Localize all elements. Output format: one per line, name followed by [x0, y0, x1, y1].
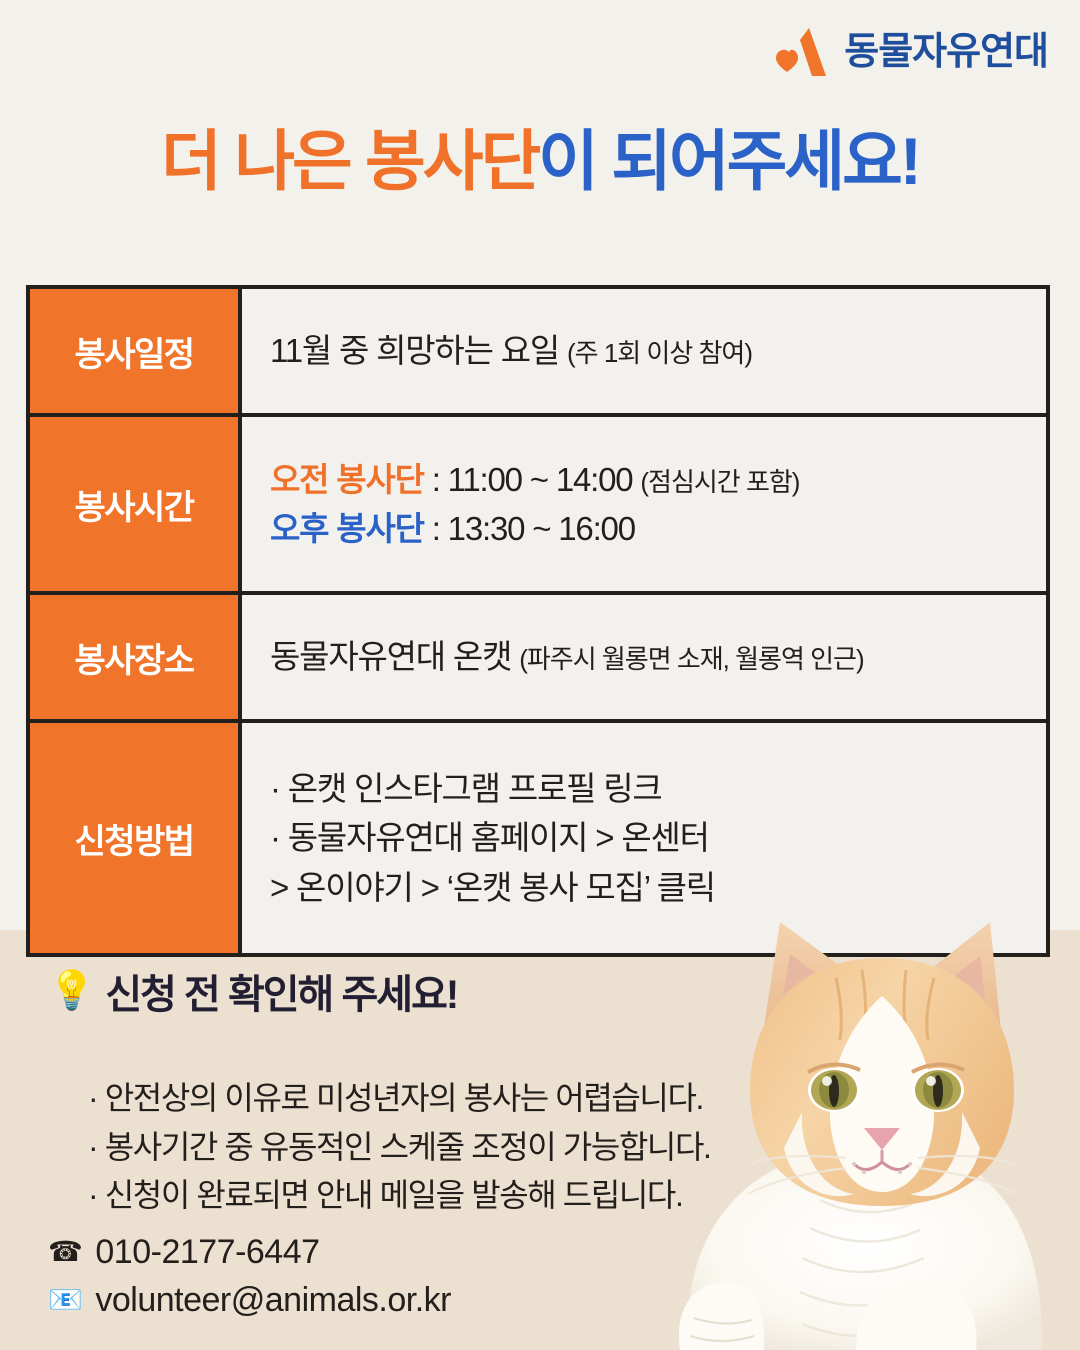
apply-step-3: > 온이야기 > ‘온캣 봉사 모집’ 클릭 [270, 863, 1046, 913]
list-item: · 안전상의 이유로 미성년자의 봉사는 어렵습니다. [88, 1074, 711, 1123]
lightbulb-icon: 💡 [48, 972, 93, 1010]
page-title: 더 나은 봉사단이 되어주세요! [0, 128, 1080, 194]
table-row-time: 봉사시간 오전 봉사단 : 11:00 ~ 14:00 (점심시간 포함) 오후… [28, 415, 1048, 593]
morning-team-note: (점심시간 포함) [640, 467, 799, 497]
location-main-text: 동물자유연대 온캣 [270, 638, 511, 675]
contact-email-row[interactable]: 📧 volunteer@animals.or.kr [48, 1276, 451, 1324]
row-value-apply: · 온캣 인스타그램 프로필 링크 · 동물자유연대 홈페이지 > 온센터 > … [240, 721, 1048, 955]
row-value-location: 동물자유연대 온캣 (파주시 월롱면 소재, 월롱역 인근) [240, 593, 1048, 721]
row-value-schedule: 11월 중 희망하는 요일 (주 1회 이상 참여) [240, 287, 1048, 415]
contact-phone-row[interactable]: ☎ 010-2177-6447 [48, 1228, 451, 1276]
volunteer-info-table: 봉사일정 11월 중 희망하는 요일 (주 1회 이상 참여) 봉사시간 오전 … [26, 285, 1050, 957]
row-label-schedule: 봉사일정 [28, 287, 240, 415]
contact-block: ☎ 010-2177-6447 📧 volunteer@animals.or.k… [48, 1228, 451, 1325]
email-envelope-icon: 📧 [48, 1286, 82, 1314]
afternoon-team-hours: : 13:30 ~ 16:00 [432, 510, 635, 547]
notice-heading-text: 신청 전 확인해 주세요! [105, 962, 457, 1020]
row-label-apply: 신청방법 [28, 721, 240, 955]
notice-heading: 💡 신청 전 확인해 주세요! [48, 962, 457, 1020]
table-row-schedule: 봉사일정 11월 중 희망하는 요일 (주 1회 이상 참여) [28, 287, 1048, 415]
location-note-text: (파주시 월롱면 소재, 월롱역 인근) [519, 644, 863, 674]
schedule-main-text: 11월 중 희망하는 요일 [270, 332, 559, 369]
row-value-time: 오전 봉사단 : 11:00 ~ 14:00 (점심시간 포함) 오후 봉사단 … [240, 415, 1048, 593]
table-row-location: 봉사장소 동물자유연대 온캣 (파주시 월롱면 소재, 월롱역 인근) [28, 593, 1048, 721]
poster-root: 동물자유연대 더 나은 봉사단이 되어주세요! 봉사일정 11월 중 희망하는 … [0, 0, 1080, 1350]
time-line-morning: 오전 봉사단 : 11:00 ~ 14:00 (점심시간 포함) [270, 455, 1046, 505]
title-orange-part: 더 나은 봉사단 [161, 124, 538, 198]
telephone-icon: ☎ [48, 1238, 82, 1266]
email-address[interactable]: volunteer@animals.or.kr [95, 1276, 451, 1324]
logo-wordmark: 동물자유연대 [844, 33, 1048, 71]
morning-team-hours: : 11:00 ~ 14:00 [432, 461, 633, 498]
row-label-time: 봉사시간 [28, 415, 240, 593]
phone-number[interactable]: 010-2177-6447 [95, 1228, 319, 1276]
notice-list: · 안전상의 이유로 미성년자의 봉사는 어렵습니다. · 봉사기간 중 유동적… [48, 1074, 711, 1220]
morning-team-tag: 오전 봉사단 [270, 461, 424, 498]
organization-logo: 동물자유연대 [776, 26, 1048, 78]
afternoon-team-tag: 오후 봉사단 [270, 510, 424, 547]
time-line-afternoon: 오후 봉사단 : 13:30 ~ 16:00 [270, 504, 1046, 554]
list-item: · 신청이 완료되면 안내 메일을 발송해 드립니다. [88, 1171, 711, 1220]
schedule-note-text: (주 1회 이상 참여) [567, 338, 752, 368]
animal-liberation-a-mark-icon [776, 26, 830, 78]
apply-step-1: · 온캣 인스타그램 프로필 링크 [270, 764, 1046, 814]
row-label-location: 봉사장소 [28, 593, 240, 721]
list-item: · 봉사기간 중 유동적인 스케줄 조정이 가능합니다. [88, 1123, 711, 1172]
apply-step-2: · 동물자유연대 홈페이지 > 온센터 [270, 813, 1046, 863]
title-blue-part: 이 되어주세요! [538, 124, 919, 198]
table-row-apply: 신청방법 · 온캣 인스타그램 프로필 링크 · 동물자유연대 홈페이지 > 온… [28, 721, 1048, 955]
